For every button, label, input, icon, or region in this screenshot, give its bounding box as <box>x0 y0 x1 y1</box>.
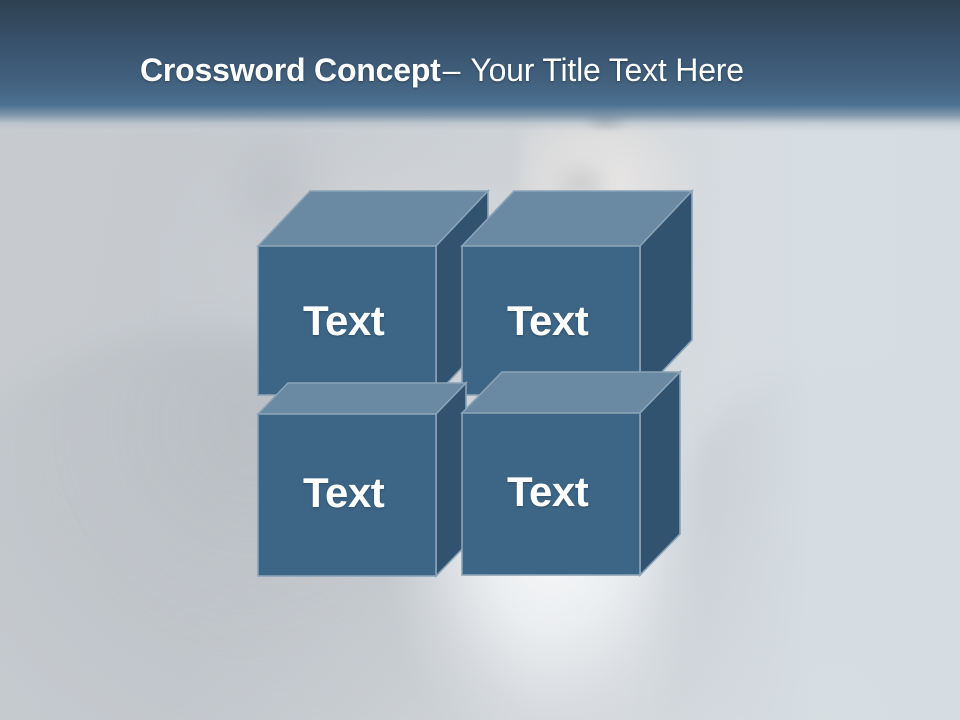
cube-front-face <box>258 414 436 576</box>
slide-canvas: Crossword Concept– Your Title Text Here … <box>0 0 960 720</box>
cube-front-face <box>258 246 436 395</box>
cube-top-face <box>258 383 466 414</box>
cube-bottom-right[interactable]: Text <box>462 371 702 581</box>
cube-front-face <box>462 413 640 575</box>
four-cube-diagram: Text Text Text <box>0 0 960 720</box>
